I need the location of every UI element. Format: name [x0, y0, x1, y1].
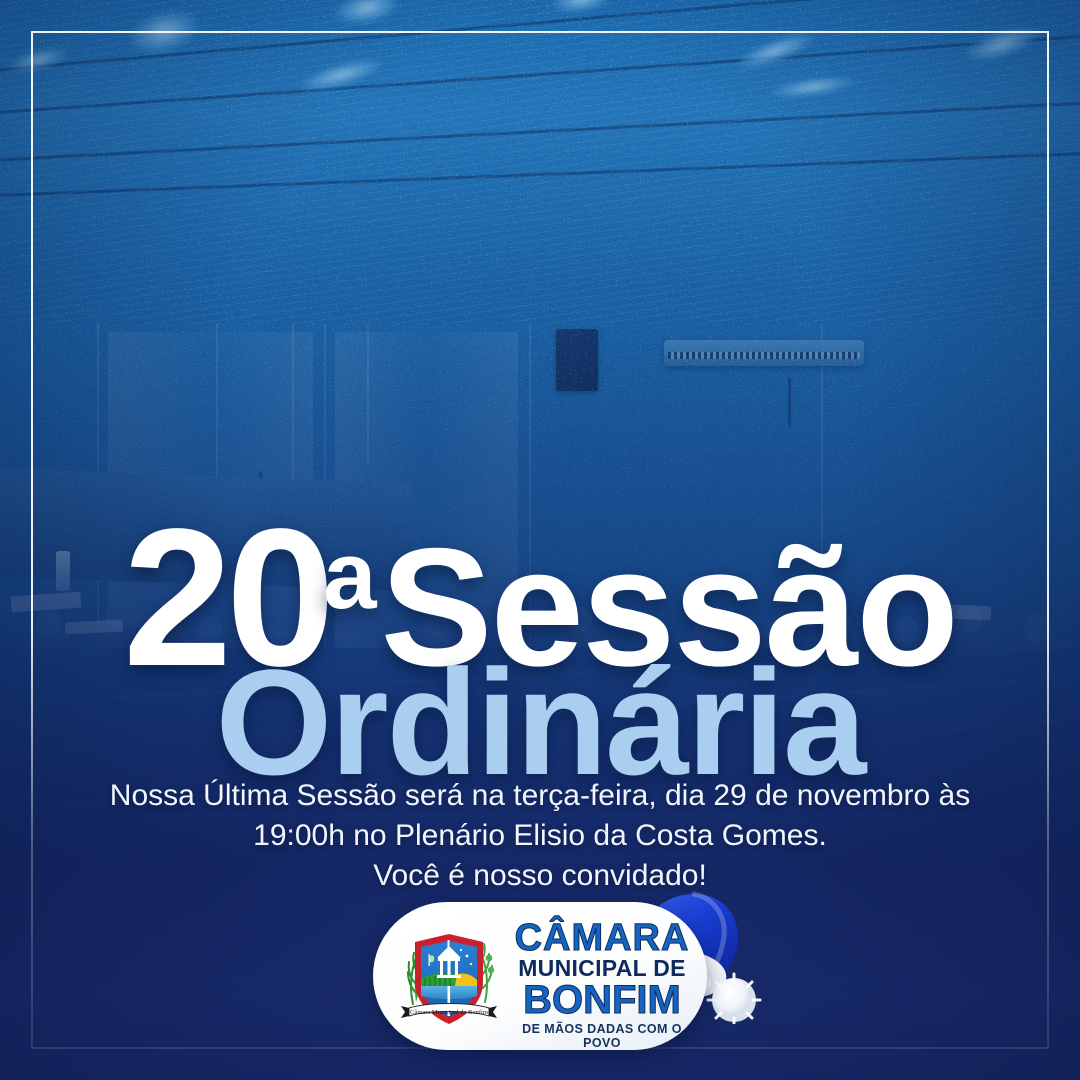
logo-line-camara: CÂMARA — [503, 920, 701, 956]
logo-lockup: Câmara Municipal de Bonfim CÂMARA MUNICI… — [373, 902, 707, 1050]
headline-block: 20aSessão Ordinária — [0, 516, 1080, 785]
ordinal-suffix: a — [323, 522, 376, 629]
coat-of-arms-crest-icon: Câmara Municipal de Bonfim — [397, 926, 501, 1030]
logo-wordmark: CÂMARA MUNICIPAL DE BONFIM DE MÃOS DADAS… — [503, 920, 701, 1050]
poster-canvas: 20aSessão Ordinária Nossa Última Sessão … — [0, 0, 1080, 1080]
crest-motto-text: Câmara Municipal de Bonfim — [410, 1009, 488, 1016]
announcement-line-2: 19:00h no Plenário Elisio da Costa Gomes… — [90, 816, 990, 856]
announcement-text: Nossa Última Sessão será na terça-feira,… — [90, 776, 990, 896]
announcement-line-3: Você é nosso convidado! — [90, 856, 990, 896]
logo-line-bonfim: BONFIM — [503, 981, 701, 1019]
logo-slogan: DE MÃOS DADAS COM O POVO — [503, 1022, 701, 1050]
announcement-line-1: Nossa Última Sessão será na terça-feira,… — [90, 776, 990, 816]
